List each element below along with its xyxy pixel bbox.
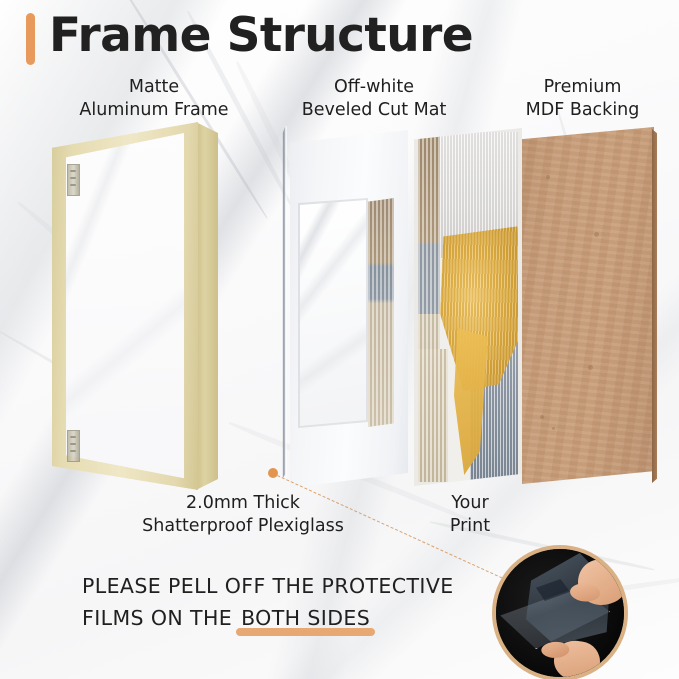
label-your-print: Your Print <box>404 492 536 538</box>
title-accent-bar <box>26 13 35 65</box>
label-line-1: Premium <box>490 76 675 99</box>
plexiglass-sheet-face <box>283 126 287 478</box>
label-line-2: Print <box>404 515 536 538</box>
aluminum-frame-illustration <box>52 122 218 490</box>
frame-structure-infographic: Frame Structure Matte Aluminum Frame Off… <box>0 0 679 679</box>
frame-open-interior <box>66 122 184 490</box>
art-print-panel <box>414 128 522 486</box>
note-highlight-both-sides: BOTH SIDES <box>239 602 372 634</box>
frame-side-profile <box>196 122 218 490</box>
artwork-beige-lower-band <box>418 349 448 482</box>
page-title: Frame Structure <box>49 8 473 63</box>
note-line-2-prefix: FILMS ON THE <box>82 606 239 630</box>
mdf-backing-edge <box>652 129 657 483</box>
peel-instruction-note: PLEASE PELL OFF THE PROTECTIVE FILMS ON … <box>82 570 482 634</box>
label-line-2: Shatterproof Plexiglass <box>118 515 368 538</box>
note-line-2: FILMS ON THE BOTH SIDES <box>82 602 482 634</box>
peel-film-photo-inset <box>492 545 628 679</box>
label-line-1: Matte <box>54 76 254 99</box>
label-line-2: Aluminum Frame <box>54 99 254 122</box>
mdf-grain-texture <box>522 127 654 484</box>
label-line-2: MDF Backing <box>490 99 675 122</box>
label-mdf-backing: Premium MDF Backing <box>490 76 675 122</box>
frame-corner-bracket-top <box>67 164 80 196</box>
mdf-backing-board <box>522 127 654 484</box>
label-line-1: Your <box>404 492 536 515</box>
label-aluminum-frame: Matte Aluminum Frame <box>54 76 254 122</box>
label-line-1: 2.0mm Thick <box>118 492 368 515</box>
label-line-1: Off-white <box>263 76 485 99</box>
label-line-2: Beveled Cut Mat <box>263 99 485 122</box>
callout-origin-dot <box>268 468 278 478</box>
print-visible-through-mat <box>368 198 394 427</box>
note-line-1: PLEASE PELL OFF THE PROTECTIVE <box>82 570 482 602</box>
label-beveled-cut-mat: Off-white Beveled Cut Mat <box>263 76 485 122</box>
mat-window-opening <box>300 200 366 426</box>
frame-corner-bracket-bottom <box>67 430 80 462</box>
abstract-artwork <box>418 132 518 482</box>
